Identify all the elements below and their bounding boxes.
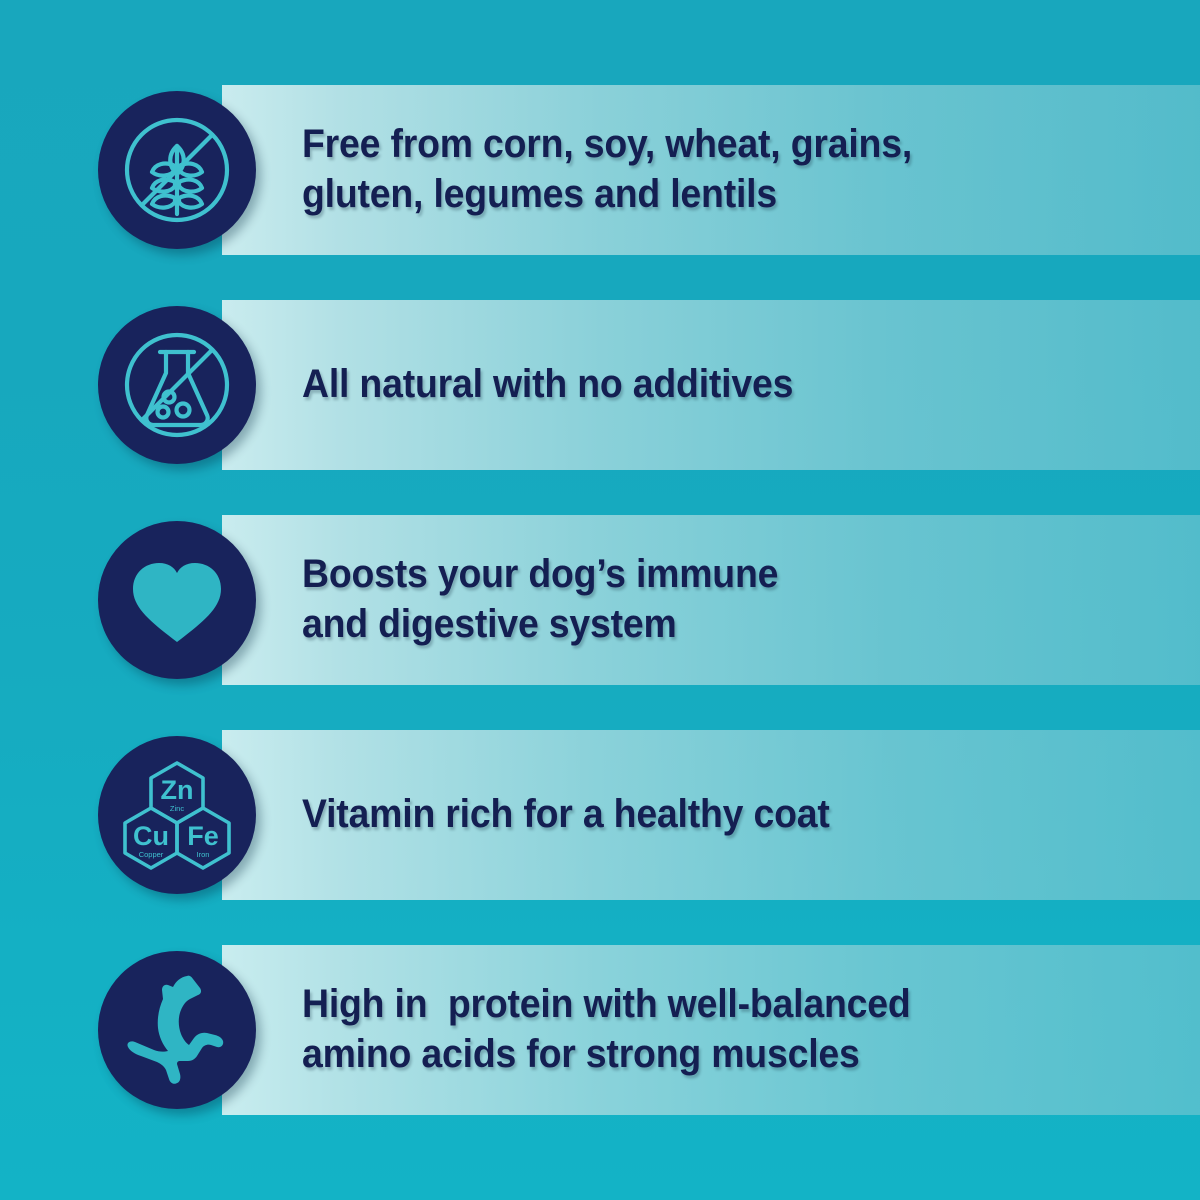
feature-row: Boosts your dog’s immune and digestive s… — [0, 515, 1200, 685]
no-additives-icon — [98, 306, 256, 464]
feature-row: All natural with no additives — [0, 300, 1200, 470]
mineral-name-iron: Iron — [197, 850, 210, 859]
feature-text: High in protein with well-balanced amino… — [302, 945, 911, 1115]
mineral-symbol-zn: Zn — [161, 775, 194, 805]
feature-text-line: High in protein with well-balanced — [302, 980, 911, 1030]
dog-icon — [98, 951, 256, 1109]
mineral-name-copper: Copper — [139, 850, 164, 859]
feature-row: Free from corn, soy, wheat, grains, glut… — [0, 85, 1200, 255]
feature-text-line: Vitamin rich for a healthy coat — [302, 790, 830, 840]
feature-text-line: Free from corn, soy, wheat, grains, — [302, 120, 912, 170]
feature-row: Zn Zinc Cu Copper Fe Iron Vitamin rich f… — [0, 730, 1200, 900]
feature-row: High in protein with well-balanced amino… — [0, 945, 1200, 1115]
minerals-icon: Zn Zinc Cu Copper Fe Iron — [98, 736, 256, 894]
feature-text-line: amino acids for strong muscles — [302, 1030, 911, 1080]
feature-list: Free from corn, soy, wheat, grains, glut… — [0, 0, 1200, 1200]
feature-text: Boosts your dog’s immune and digestive s… — [302, 515, 778, 685]
feature-text: Free from corn, soy, wheat, grains, glut… — [302, 85, 912, 255]
feature-text-line: gluten, legumes and lentils — [302, 170, 912, 220]
feature-text-line: All natural with no additives — [302, 360, 793, 410]
no-grain-icon — [98, 91, 256, 249]
feature-text: All natural with no additives — [302, 300, 793, 470]
feature-text-line: Boosts your dog’s immune — [302, 550, 778, 600]
mineral-name-zinc: Zinc — [170, 804, 184, 813]
heart-icon — [98, 521, 256, 679]
mineral-symbol-cu: Cu — [133, 821, 169, 851]
feature-text-line: and digestive system — [302, 600, 778, 650]
feature-text: Vitamin rich for a healthy coat — [302, 730, 830, 900]
mineral-symbol-fe: Fe — [187, 821, 219, 851]
